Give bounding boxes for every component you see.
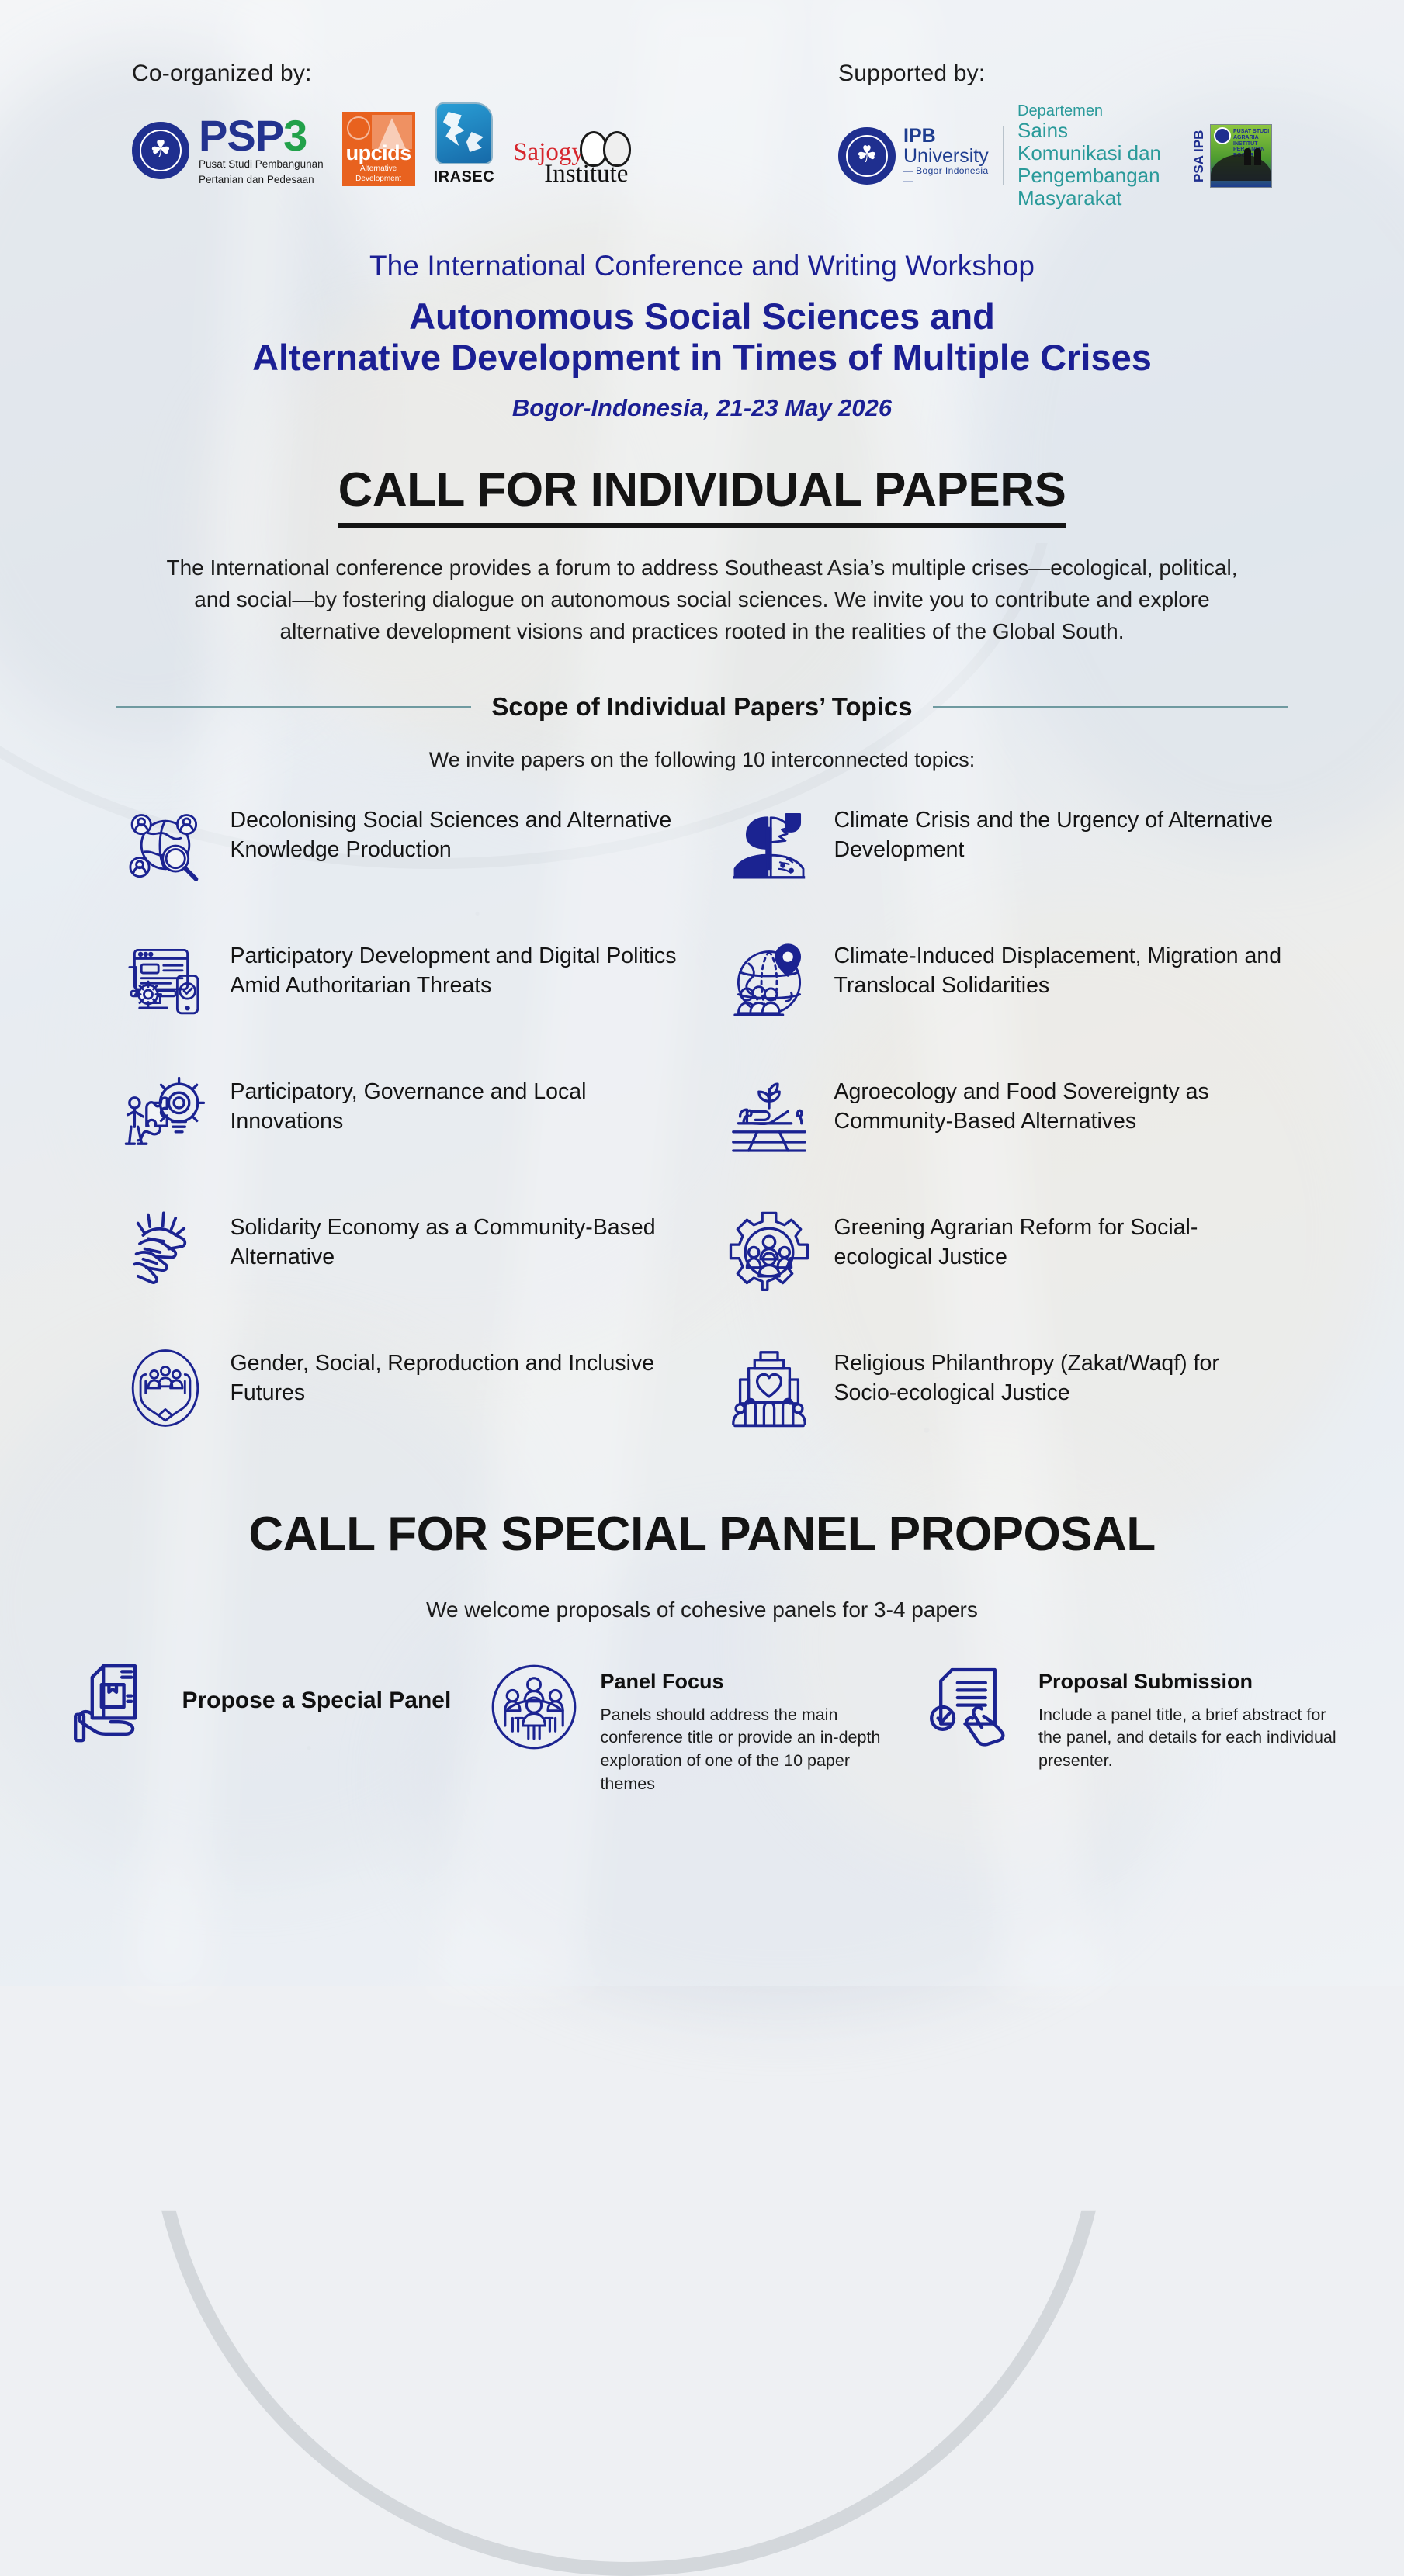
logo-divider bbox=[1003, 126, 1004, 185]
stacked-hands-icon bbox=[120, 1207, 210, 1297]
globe-people-magnifier-icon bbox=[120, 800, 210, 890]
departemen-line3: Pengembangan Masyarakat bbox=[1017, 164, 1177, 209]
topic-item: Greening Agrarian Reform for Social-ecol… bbox=[724, 1207, 1284, 1343]
psa-ipb-logo: PSA IPB PUSAT STUDI AGRARIAINSTITUT PERT… bbox=[1191, 124, 1288, 188]
topic-label: Decolonising Social Sciences and Alterna… bbox=[231, 800, 681, 865]
hand-sprout-field-icon bbox=[724, 1072, 814, 1162]
hands-holding-family-icon bbox=[120, 1343, 210, 1433]
supporter-logo-row: ☘ IPB University — Bogor Indonesia — Dep… bbox=[838, 102, 1288, 209]
topic-item: Climate Crisis and the Urgency of Altern… bbox=[724, 800, 1284, 936]
ipb-university-seal-icon: ☘ bbox=[838, 127, 896, 185]
conference-title-line2: Alternative Development in Times of Mult… bbox=[252, 337, 1152, 378]
topics-grid: Decolonising Social Sciences and Alterna… bbox=[120, 800, 1284, 1479]
gear-people-icon bbox=[724, 1207, 814, 1297]
psa-ipb-emblem-icon: PUSAT STUDI AGRARIAINSTITUT PERTANIAN BO… bbox=[1210, 124, 1272, 188]
psp3-sub-line2: Pertanian dan Pedesaan bbox=[199, 174, 324, 186]
tree-drought-split-icon bbox=[724, 800, 814, 890]
departemen-line2: Sains Komunikasi dan bbox=[1017, 119, 1177, 164]
topic-item: Religious Philanthropy (Zakat/Waqf) for … bbox=[724, 1343, 1284, 1479]
topic-label: Climate Crisis and the Urgency of Altern… bbox=[834, 800, 1284, 865]
topic-item: Climate-Induced Displacement, Migration … bbox=[724, 936, 1284, 1072]
topic-item: Decolonising Social Sciences and Alterna… bbox=[120, 800, 681, 936]
topic-item: Agroecology and Food Sovereignty as Comm… bbox=[724, 1072, 1284, 1207]
ipb-university-wordmark: IPB University bbox=[903, 126, 989, 166]
psp3-logo: ☘ PSP3 Pusat Studi Pembangunan Pertanian… bbox=[132, 116, 324, 186]
departemen-skpm-logo: Departemen Sains Komunikasi dan Pengemba… bbox=[1017, 102, 1177, 209]
conference-date-location: Bogor-Indonesia, 21-23 May 2026 bbox=[0, 394, 1404, 422]
panel-discussion-circle-icon bbox=[484, 1657, 584, 1757]
hand-checked-document-icon bbox=[922, 1657, 1023, 1757]
upcids-seal-icon bbox=[347, 116, 370, 140]
co-organizers-block: Co-organized by: ☘ PSP3 Pusat Studi Pemb… bbox=[132, 61, 807, 209]
call-for-papers-heading-text: CALL FOR INDIVIDUAL PAPERS bbox=[338, 463, 1066, 528]
panel-info-title: Proposal Submission bbox=[1038, 1669, 1339, 1694]
panel-info-item: Propose a Special Panel bbox=[66, 1657, 463, 1795]
upcids-logo: upcids Alternative Development bbox=[342, 112, 415, 186]
upcids-triangle-icon bbox=[372, 115, 412, 149]
monitor-gear-mobile-icon bbox=[120, 936, 210, 1026]
conference-title: Autonomous Social Sciences and Alternati… bbox=[0, 296, 1404, 378]
topic-label: Gender, Social, Reproduction and Inclusi… bbox=[231, 1343, 681, 1408]
co-organized-by-label: Co-organized by: bbox=[132, 61, 807, 87]
topic-label: Agroecology and Food Sovereignty as Comm… bbox=[834, 1072, 1284, 1137]
conference-kicker: The International Conference and Writing… bbox=[0, 250, 1404, 282]
supporters-block: Supported by: ☘ IPB University — Bogor I… bbox=[807, 61, 1288, 209]
poster-page: Co-organized by: ☘ PSP3 Pusat Studi Pemb… bbox=[0, 0, 1404, 1986]
scope-divider-row: Scope of Individual Papers’ Topics bbox=[0, 692, 1404, 722]
supported-by-label: Supported by: bbox=[838, 61, 1288, 87]
call-for-panel-heading: CALL FOR SPECIAL PANEL PROPOSAL bbox=[0, 1507, 1404, 1562]
scope-subtitle: We invite papers on the following 10 int… bbox=[0, 748, 1404, 772]
topic-label: Climate-Induced Displacement, Migration … bbox=[834, 936, 1284, 1001]
panel-info-row: Propose a Special Panel P bbox=[66, 1657, 1339, 1795]
topic-item: Participatory, Governance and Local Inno… bbox=[120, 1072, 681, 1207]
irasec-logo: IRASEC bbox=[434, 102, 495, 186]
topic-item: Gender, Social, Reproduction and Inclusi… bbox=[120, 1343, 681, 1479]
person-puzzle-lightbulb-icon bbox=[120, 1072, 210, 1162]
conference-title-block: The International Conference and Writing… bbox=[0, 250, 1404, 421]
departemen-line1: Departemen bbox=[1017, 102, 1177, 119]
upcids-sub-line2: Development bbox=[355, 175, 401, 184]
panel-info-desc: Include a panel title, a brief abstract … bbox=[1038, 1704, 1339, 1773]
irasec-wordmark: IRASEC bbox=[434, 168, 495, 186]
poster-header: Co-organized by: ☘ PSP3 Pusat Studi Pemb… bbox=[0, 0, 1404, 209]
topic-label: Solidarity Economy as a Community-Based … bbox=[231, 1207, 681, 1272]
hand-document-box-icon bbox=[66, 1657, 167, 1757]
scope-rule-left bbox=[116, 706, 471, 708]
scope-rule-right bbox=[933, 706, 1288, 708]
psp3-wordmark: PSP3 bbox=[199, 116, 324, 156]
panel-info-desc: Panels should address the main conferenc… bbox=[600, 1704, 900, 1796]
topic-label: Greening Agrarian Reform for Social-ecol… bbox=[834, 1207, 1284, 1272]
topic-label: Religious Philanthropy (Zakat/Waqf) for … bbox=[834, 1343, 1284, 1408]
topic-item: Solidarity Economy as a Community-Based … bbox=[120, 1207, 681, 1343]
call-for-papers-lead: The International conference provides a … bbox=[167, 552, 1238, 647]
panel-info-item: Panel Focus Panels should address the ma… bbox=[484, 1657, 900, 1795]
ipb-university-logo: ☘ IPB University — Bogor Indonesia — bbox=[838, 126, 989, 185]
topic-label: Participatory, Governance and Local Inno… bbox=[231, 1072, 681, 1137]
psp3-sub-line1: Pusat Studi Pembangunan bbox=[199, 158, 324, 171]
call-for-panel-heading-text: CALL FOR SPECIAL PANEL PROPOSAL bbox=[248, 1508, 1155, 1561]
upcids-sub-line1: Alternative bbox=[360, 165, 397, 174]
building-heart-hands-icon bbox=[724, 1343, 814, 1433]
scope-label: Scope of Individual Papers’ Topics bbox=[491, 692, 912, 722]
conference-title-line1: Autonomous Social Sciences and bbox=[409, 296, 995, 337]
panel-info-title: Propose a Special Panel bbox=[182, 1686, 452, 1716]
panel-welcome-text: We welcome proposals of cohesive panels … bbox=[0, 1598, 1404, 1622]
panel-info-title: Panel Focus bbox=[600, 1669, 900, 1694]
irasec-map-icon bbox=[435, 102, 493, 164]
globe-pin-people-icon bbox=[724, 936, 814, 1026]
sajogyo-logo: Sajogyo Institute bbox=[513, 136, 628, 186]
topic-label: Participatory Development and Digital Po… bbox=[231, 936, 681, 1001]
ipb-seal-icon: ☘ bbox=[132, 122, 189, 179]
panel-info-item: Proposal Submission Include a panel titl… bbox=[922, 1657, 1339, 1795]
co-organizer-logo-row: ☘ PSP3 Pusat Studi Pembangunan Pertanian… bbox=[132, 102, 807, 186]
ipb-university-tagline: — Bogor Indonesia — bbox=[903, 166, 989, 185]
psa-ipb-side-label: PSA IPB bbox=[1191, 124, 1207, 188]
topic-item: Participatory Development and Digital Po… bbox=[120, 936, 681, 1072]
call-for-papers-heading: CALL FOR INDIVIDUAL PAPERS bbox=[0, 462, 1404, 518]
sajogyo-portraits-icon bbox=[584, 131, 631, 167]
